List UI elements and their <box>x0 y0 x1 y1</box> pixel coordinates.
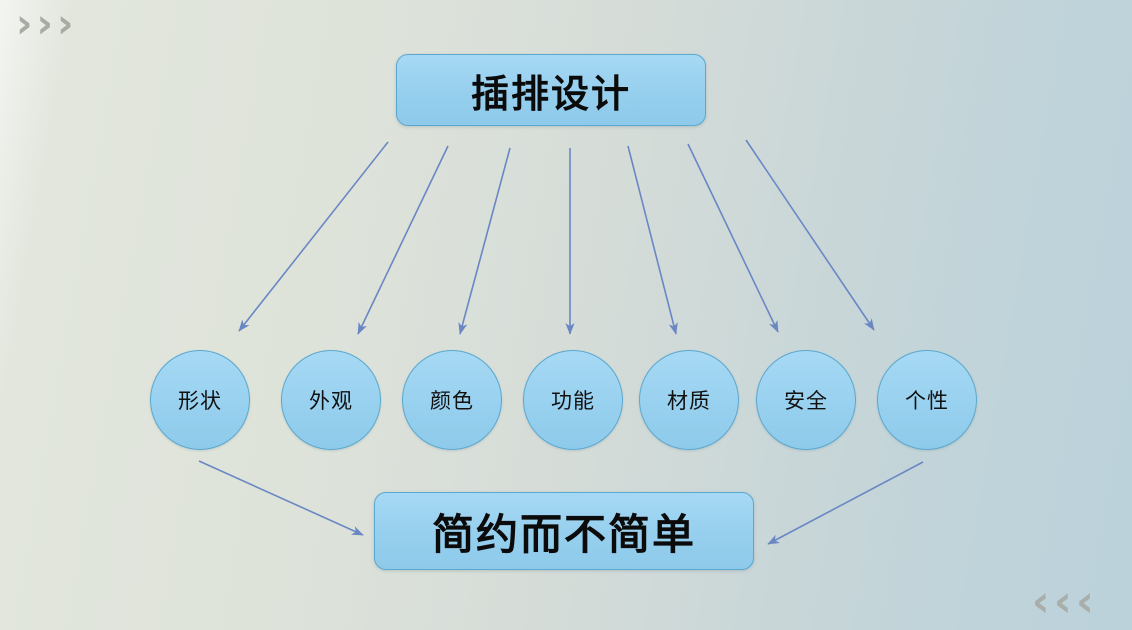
chevron-left-icon: ‹ <box>1054 580 1072 624</box>
fan-arrow <box>239 142 388 331</box>
node-circle[interactable]: 功能 <box>523 350 623 450</box>
chevron-right-icon: › <box>57 4 73 44</box>
chevron-left-icon: ‹ <box>1032 580 1050 624</box>
fan-arrow <box>688 144 778 332</box>
node-circle[interactable]: 个性 <box>877 350 977 450</box>
node-circle-label: 安全 <box>784 385 828 415</box>
fan-arrow <box>628 146 676 334</box>
title-box[interactable]: 插排设计 <box>396 54 706 126</box>
converge-arrow <box>199 461 363 535</box>
node-circle-label: 外观 <box>309 385 353 415</box>
node-circle[interactable]: 外观 <box>281 350 381 450</box>
conclusion-box[interactable]: 简约而不简单 <box>374 492 754 570</box>
node-circle-label: 材质 <box>667 385 711 415</box>
node-circle-label: 功能 <box>551 385 595 415</box>
node-circle-label: 颜色 <box>430 385 474 415</box>
fan-out-arrows <box>239 140 874 334</box>
chevron-right-icon: › <box>16 4 32 44</box>
fan-arrow <box>746 140 874 330</box>
node-circle-label: 形状 <box>178 385 222 415</box>
decor-chevrons-top-left: › › › <box>16 4 73 44</box>
node-circle[interactable]: 形状 <box>150 350 250 450</box>
converge-arrow <box>768 462 923 544</box>
chevron-left-icon: ‹ <box>1076 580 1094 624</box>
node-circle[interactable]: 颜色 <box>402 350 502 450</box>
fan-arrow <box>358 146 448 334</box>
node-circle[interactable]: 材质 <box>639 350 739 450</box>
node-circle-label: 个性 <box>905 385 949 415</box>
slide-canvas: › › › 插排设计 形状外观颜色功能材质安全个性 简约而不简单 ‹ ‹ ‹ <box>0 0 1132 630</box>
node-circle[interactable]: 安全 <box>756 350 856 450</box>
decor-chevrons-bottom-right: ‹ ‹ ‹ <box>1032 580 1094 624</box>
fan-arrow <box>460 148 510 334</box>
chevron-right-icon: › <box>36 4 52 44</box>
